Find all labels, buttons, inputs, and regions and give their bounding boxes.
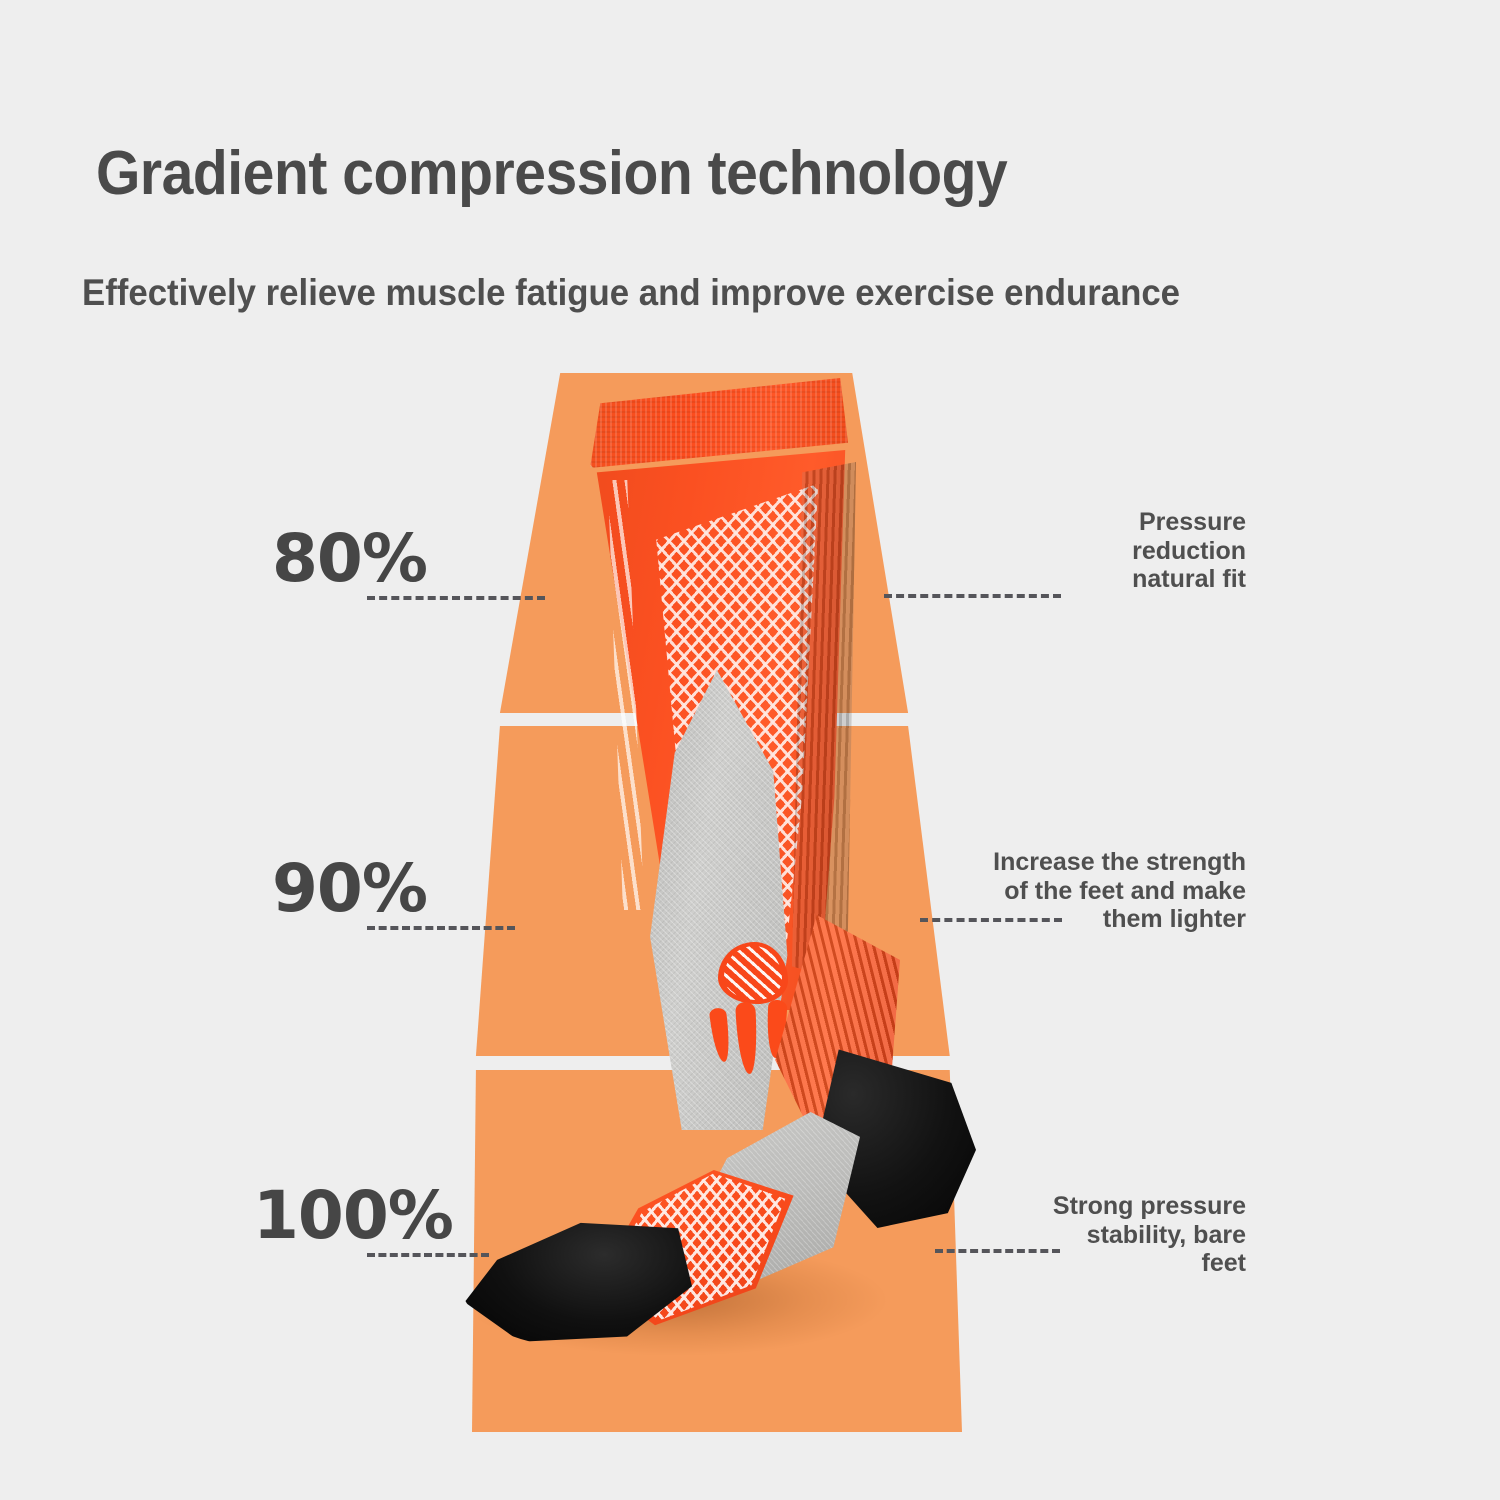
feature-caption-pressure-reduction: Pressure reduction natural fit xyxy=(976,508,1246,594)
infographic-page: Gradient compression technology Effectiv… xyxy=(0,0,1500,1500)
caption-line: reduction xyxy=(976,537,1246,566)
feature-caption-pressure-stability: Strong pressure stability, bare feet xyxy=(976,1192,1246,1278)
feature-caption-foot-strength: Increase the strength of the feet and ma… xyxy=(976,848,1246,934)
pressure-label-90: 90% xyxy=(272,850,427,927)
pressure-label-100: 100% xyxy=(253,1177,453,1254)
page-subtitle: Effectively relieve muscle fatigue and i… xyxy=(82,272,1180,314)
caption-line: stability, bare xyxy=(976,1221,1246,1250)
caption-line: them lighter xyxy=(976,905,1246,934)
compression-sock-illustration xyxy=(440,370,1000,1370)
pressure-label-80: 80% xyxy=(272,520,427,597)
caption-line: of the feet and make xyxy=(976,877,1246,906)
sock-toe-cap xyxy=(460,1215,692,1347)
caption-line: natural fit xyxy=(976,565,1246,594)
sock-calf-rib xyxy=(792,462,856,982)
caption-line: Pressure xyxy=(976,508,1246,537)
page-title: Gradient compression technology xyxy=(96,138,1007,209)
caption-line: Increase the strength xyxy=(976,848,1246,877)
leader-line-right-80 xyxy=(884,594,1061,598)
caption-line: feet xyxy=(976,1249,1246,1278)
caption-line: Strong pressure xyxy=(976,1192,1246,1221)
